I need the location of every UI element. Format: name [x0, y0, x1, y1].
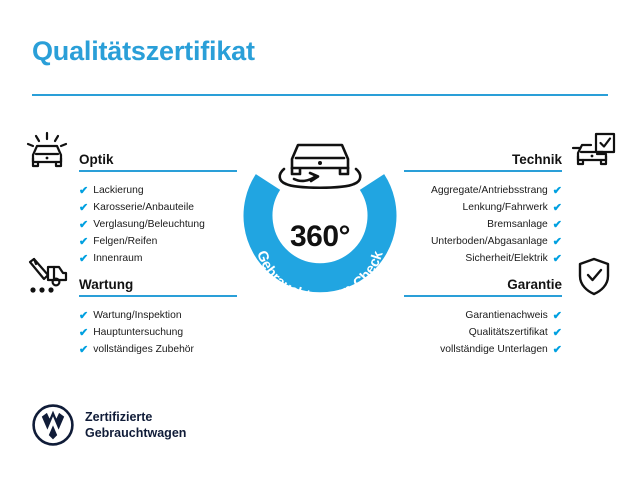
- check-icon: ✔: [553, 220, 562, 231]
- checklist-garantie: Garantienachweis✔ Qualitätszertifikat✔ v…: [404, 308, 619, 359]
- check-icon: ✔: [553, 186, 562, 197]
- list-item-label: Felgen/Reifen: [93, 237, 157, 247]
- list-item-label: vollständiges Zubehör: [93, 345, 194, 355]
- list-item: vollständige Unterlagen✔: [404, 342, 619, 359]
- check-icon: ✔: [79, 237, 88, 248]
- list-item: Qualitätszertifikat✔: [404, 325, 619, 342]
- list-item: Aggregate/Antriebsstrang✔: [404, 183, 619, 200]
- wrench-car-icon: [24, 256, 70, 298]
- check-icon: ✔: [79, 345, 88, 356]
- list-item-label: Wartung/Inspektion: [93, 311, 181, 321]
- check-icon: ✔: [553, 237, 562, 248]
- footer-text: Zertifizierte Gebrauchtwagen: [85, 409, 186, 442]
- list-item-label: Unterboden/Abgasanlage: [431, 237, 548, 247]
- list-item-label: Aggregate/Antriebsstrang: [431, 186, 548, 196]
- list-item: ✔Felgen/Reifen: [22, 234, 237, 251]
- list-item-label: Karosserie/Anbauteile: [93, 203, 194, 213]
- section-divider-garantie: [404, 295, 562, 297]
- list-item: ✔Lackierung: [22, 183, 237, 200]
- section-title-technik: Technik: [512, 152, 562, 167]
- section-divider-wartung: [79, 295, 237, 297]
- section-divider-optik: [79, 170, 237, 172]
- list-item: Bremsanlage✔: [404, 217, 619, 234]
- check-icon: ✔: [553, 203, 562, 214]
- section-header-garantie: Garantie: [404, 256, 619, 302]
- section-title-garantie: Garantie: [507, 277, 562, 292]
- list-item: Lenkung/Fahrwerk✔: [404, 200, 619, 217]
- checklist-wartung: ✔Wartung/Inspektion ✔Hauptuntersuchung ✔…: [22, 308, 237, 359]
- list-item: ✔Wartung/Inspektion: [22, 308, 237, 325]
- list-item-label: Qualitätszertifikat: [469, 328, 548, 338]
- list-item: Garantienachweis✔: [404, 308, 619, 325]
- car-rotate-360-icon: [280, 145, 361, 188]
- section-title-optik: Optik: [79, 152, 114, 167]
- section-divider-technik: [404, 170, 562, 172]
- section-garantie: Garantie Garantienachweis✔ Qualitätszert…: [404, 256, 619, 359]
- list-item-label: Lackierung: [93, 186, 143, 196]
- section-wartung: Wartung ✔Wartung/Inspektion ✔Hauptunters…: [22, 256, 237, 359]
- list-item-label: Garantienachweis: [465, 311, 547, 321]
- list-item-label: Bremsanlage: [487, 220, 548, 230]
- car-shine-icon: [24, 131, 70, 173]
- list-item: Unterboden/Abgasanlage✔: [404, 234, 619, 251]
- check-icon: ✔: [553, 311, 562, 322]
- check-icon: ✔: [79, 220, 88, 231]
- list-item: ✔Hauptuntersuchung: [22, 325, 237, 342]
- check-icon: ✔: [79, 311, 88, 322]
- page-title: Qualitätszertifikat: [32, 36, 255, 67]
- check-icon: ✔: [553, 328, 562, 339]
- section-header-technik: Technik: [404, 131, 619, 177]
- volkswagen-logo: [32, 404, 74, 446]
- section-technik: Technik Aggregate/Antriebsstrang✔ Lenkun…: [404, 131, 619, 268]
- list-item: ✔vollständiges Zubehör: [22, 342, 237, 359]
- section-optik: Optik ✔Lackierung ✔Karosserie/Anbauteile…: [22, 131, 237, 268]
- badge-degrees: 360°: [238, 220, 402, 254]
- list-item-label: vollständige Unterlagen: [440, 345, 548, 355]
- section-header-optik: Optik: [22, 131, 237, 177]
- footer-brand: Zertifizierte Gebrauchtwagen: [32, 404, 186, 446]
- car-checkbox-icon: [571, 131, 617, 173]
- section-header-wartung: Wartung: [22, 256, 237, 302]
- check-icon: ✔: [79, 186, 88, 197]
- check-icon: ✔: [79, 328, 88, 339]
- list-item: ✔Verglasung/Beleuchtung: [22, 217, 237, 234]
- list-item: ✔Karosserie/Anbauteile: [22, 200, 237, 217]
- check-icon: ✔: [79, 203, 88, 214]
- list-item-label: Verglasung/Beleuchtung: [93, 220, 205, 230]
- shield-check-icon: [571, 256, 617, 298]
- list-item-label: Hauptuntersuchung: [93, 328, 183, 338]
- check-icon: ✔: [553, 345, 562, 356]
- section-title-wartung: Wartung: [79, 277, 133, 292]
- list-item-label: Lenkung/Fahrwerk: [463, 203, 548, 213]
- title-divider: [32, 94, 608, 96]
- 360-check-badge: Gebrauchtwagen-Check 360°: [238, 124, 402, 306]
